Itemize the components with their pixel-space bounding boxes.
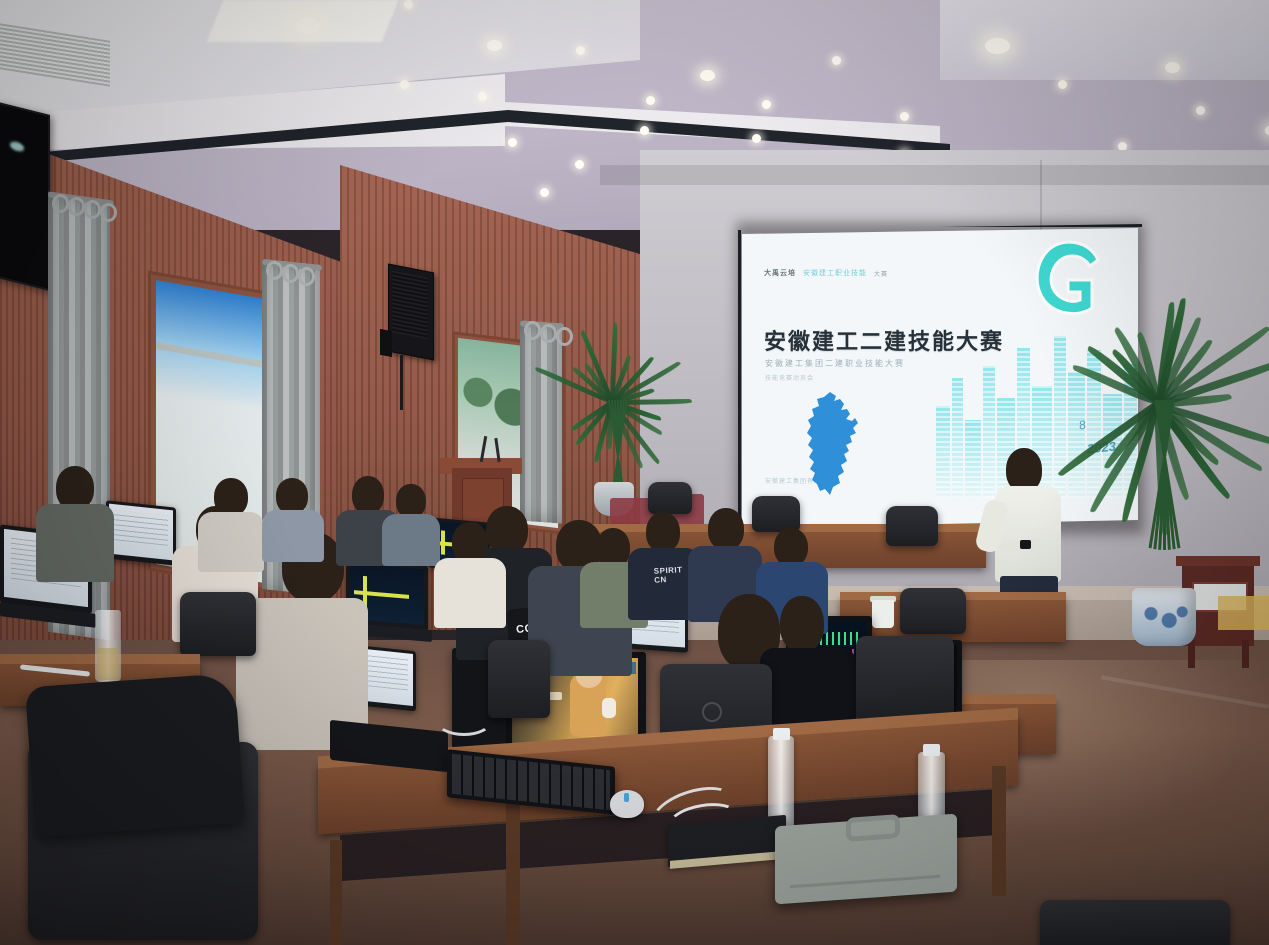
chair-logo [702,702,722,722]
bottle-cap [923,744,940,756]
office-chair[interactable] [900,588,966,634]
office-chair[interactable] [856,636,954,722]
desk-leg [330,840,342,945]
office-chair[interactable] [180,592,256,656]
office-chair[interactable] [886,506,938,546]
presenter-shirt [995,486,1061,582]
desk-leg [992,766,1006,896]
classroom-photo: 大禹云培 安徽建工职业技能 大赛 安徽建工二建技能大赛 安徽建工集团二建职业技能… [0,0,1269,945]
office-chair[interactable] [488,640,550,718]
tea-liquid [97,648,119,680]
jacket-on-chair [25,673,245,837]
bottle-cap [773,728,790,740]
laptop-sleeve-handle [846,814,900,842]
office-chair[interactable] [752,496,800,532]
paper-cup [872,600,894,628]
headphone-cable [436,706,492,736]
desk-leg [506,800,520,945]
laptop-screen-doc [109,504,173,561]
shirt-text-spirit: SPIRIT CN [654,565,684,584]
presenter-wristwatch [1020,540,1031,549]
laptop-doc-2[interactable] [106,500,176,565]
mouse-scroll-wheel[interactable] [624,793,629,802]
office-chair[interactable] [648,482,692,514]
office-chair-foreground-right[interactable] [1040,900,1230,945]
